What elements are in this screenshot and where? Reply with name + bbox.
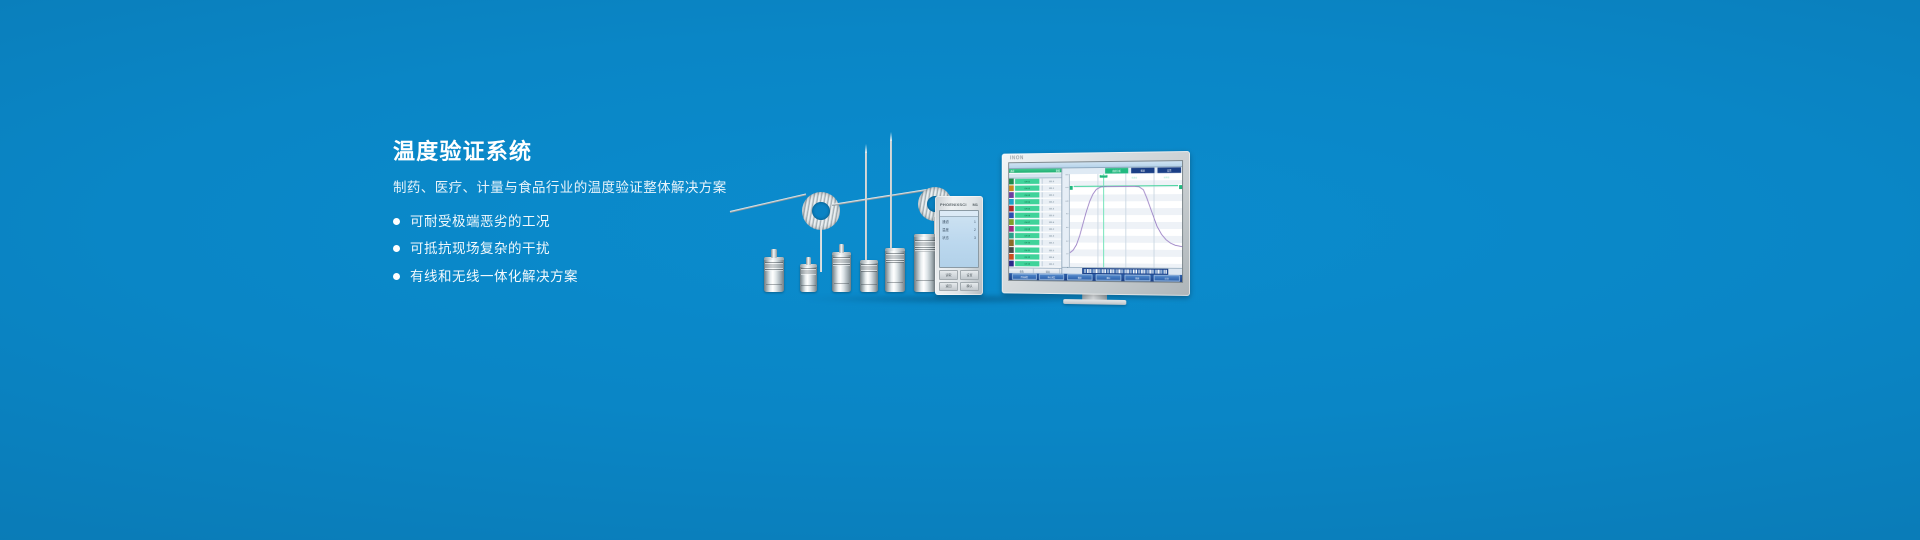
handheld-keypad[interactable]: 读取 设置 返回 确认 xyxy=(939,270,979,291)
channel-color-swatch xyxy=(1009,212,1014,218)
probe-stem xyxy=(820,226,822,272)
channel-value-cell: 121.3 xyxy=(1042,178,1061,184)
data-logger-1-cap xyxy=(771,249,777,258)
handheld-key-setup[interactable]: 设置 xyxy=(960,270,979,280)
chart-area: 曲线分析 报表 设置 140120100806040200 xyxy=(1062,167,1182,275)
logger-band xyxy=(861,284,876,285)
channel-value-cell: 121.5 xyxy=(1042,192,1061,197)
feature-bullet-1-label: 可耐受极端恶劣的工况 xyxy=(410,215,550,229)
logger-band xyxy=(887,282,904,283)
zoom-button[interactable]: 缩放 xyxy=(1067,274,1092,281)
probe-wire-tail xyxy=(832,189,927,206)
y-axis: 140120100806040200 xyxy=(1062,174,1070,267)
data-logger-3 xyxy=(832,252,851,292)
handheld-lcd-screen: 通道 1 温度 2 状态 3 xyxy=(939,210,979,268)
handheld-lcd-row-value: 3 xyxy=(974,236,976,241)
channel-name-cell: CH 05 xyxy=(1015,206,1039,211)
data-logger-4 xyxy=(860,260,878,292)
needle-tip-icon xyxy=(865,144,867,153)
channel-name-cell: CH 04 xyxy=(1015,199,1039,204)
channel-value-cell: 121.6 xyxy=(1042,220,1061,225)
channel-color-swatch xyxy=(1009,247,1014,253)
handheld-lcd-row: 温度 2 xyxy=(940,228,978,233)
feature-bullet-2-label: 可抵抗现场复杂的干扰 xyxy=(410,242,550,256)
channel-table[interactable]: CH 01121.3CH 02121.1CH 03121.5CH 04121.2… xyxy=(1009,178,1061,268)
logger-band xyxy=(801,285,815,286)
monitor-stand-base xyxy=(1063,299,1126,305)
feature-bullet-3-label: 有线和无线一体化解决方案 xyxy=(410,270,578,284)
channel-color-swatch xyxy=(1009,185,1014,191)
channel-color-swatch xyxy=(1009,226,1014,232)
app-body: 通道 数值 CH 01121.3CH 02121.1CH 03121.5CH 0… xyxy=(1009,167,1182,275)
logger-knurl xyxy=(765,262,783,271)
handheld-lcd-row-value: 2 xyxy=(974,228,976,233)
channel-name-cell: CH 02 xyxy=(1015,185,1039,190)
channel-value-cell: 121.4 xyxy=(1042,206,1061,211)
bullet-dot-icon xyxy=(393,273,400,280)
channel-name-cell: CH 06 xyxy=(1015,213,1039,218)
handheld-lcd-statusbar xyxy=(940,211,978,217)
report-button[interactable]: 报表 xyxy=(1124,275,1150,282)
y-axis-tick: 60 xyxy=(1066,227,1068,229)
channel-value-cell: 121.1 xyxy=(1042,185,1061,190)
print-button[interactable]: 打印 xyxy=(1153,275,1179,282)
probe-coil-ring xyxy=(802,192,840,230)
data-logger-2-cap xyxy=(806,257,811,265)
handheld-lcd-row-label: 温度 xyxy=(942,228,949,233)
channel-name-cell: CH 01 xyxy=(1015,178,1039,184)
channel-color-swatch xyxy=(1009,192,1014,198)
channel-data-panel[interactable]: 通道 数值 CH 01121.3CH 02121.1CH 03121.5CH 0… xyxy=(1009,168,1062,273)
channel-color-swatch xyxy=(1009,206,1014,212)
y-axis-tick: 80 xyxy=(1066,214,1068,216)
table-row[interactable]: CH 07121.6 xyxy=(1009,219,1061,226)
temperature-curve xyxy=(1070,173,1182,268)
logger-knurl xyxy=(886,253,904,263)
plot-region: 140120100806040200 F0 min xyxy=(1062,173,1182,268)
logger-knurl xyxy=(861,264,877,272)
data-logger-2 xyxy=(800,264,817,292)
monitor-screen: 通道 数值 CH 01121.3CH 02121.1CH 03121.5CH 0… xyxy=(1008,160,1183,283)
y-axis-tick: 120 xyxy=(1065,187,1068,189)
channel-color-swatch xyxy=(1009,178,1014,184)
data-logger-5 xyxy=(885,248,905,292)
bottom-toolbar[interactable]: 开始采集 停止采集 缩放 游标 报表 打印 xyxy=(1009,273,1182,282)
handheld-lcd-row: 通道 1 xyxy=(940,220,978,225)
y-axis-tick: 140 xyxy=(1065,174,1068,176)
channel-name-cell: CH 08 xyxy=(1015,226,1039,231)
data-logger-1 xyxy=(764,257,784,292)
logger-knurl xyxy=(833,257,850,266)
handheld-key-read[interactable]: 读取 xyxy=(939,270,958,280)
table-row[interactable]: CH 06121.0 xyxy=(1009,212,1061,219)
channel-name-cell: CH 13 xyxy=(1015,261,1039,267)
handheld-lcd-row-label: 状态 xyxy=(942,236,949,241)
channel-value-cell: 121.2 xyxy=(1042,261,1061,266)
channel-name-cell: CH 03 xyxy=(1015,192,1039,197)
channel-name-cell: CH 11 xyxy=(1015,247,1039,252)
handheld-lcd-row: 状态 3 xyxy=(940,236,978,241)
channel-color-swatch xyxy=(1009,254,1014,260)
channel-color-swatch xyxy=(1009,233,1014,239)
handheld-reader[interactable]: PHOENIXSCI M1 通道 1 温度 2 状态 3 读取 设置 返回 确认 xyxy=(935,196,983,295)
handheld-key-back[interactable]: 返回 xyxy=(939,282,958,292)
monitor-brand-logo: INON xyxy=(1010,155,1024,161)
monitor-bezel: INON 通道 数值 CH 01121.3CH 02121.1CH 03121.… xyxy=(1002,151,1190,296)
data-panel-header-right: 数值 xyxy=(1056,169,1060,173)
handheld-lcd-row-label: 通道 xyxy=(942,220,949,225)
needle-tip-icon xyxy=(890,132,892,141)
start-acquisition-button[interactable]: 开始采集 xyxy=(1012,273,1037,279)
handheld-brand-label: PHOENIXSCI xyxy=(940,202,967,207)
bullet-dot-icon xyxy=(393,218,400,225)
y-axis-tick: 20 xyxy=(1066,254,1068,256)
y-axis-tick: 40 xyxy=(1066,240,1068,242)
needle-shaft xyxy=(865,153,867,271)
logger-knurl xyxy=(801,268,816,275)
stop-acquisition-button[interactable]: 停止采集 xyxy=(1039,274,1064,281)
y-axis-tick: 100 xyxy=(1065,200,1068,202)
export-button[interactable]: 导出 xyxy=(1036,269,1060,274)
plot-canvas[interactable]: F0 min 保温段 降温段 xyxy=(1070,173,1182,268)
desktop-monitor: INON 通道 数值 CH 01121.3CH 02121.1CH 03121.… xyxy=(1002,151,1190,296)
channel-value-cell: 121.3 xyxy=(1042,233,1061,238)
channel-color-swatch xyxy=(1009,260,1014,266)
channel-name-cell: CH 10 xyxy=(1015,240,1039,245)
probe-wire-tail xyxy=(730,193,806,212)
channel-name-cell: CH 12 xyxy=(1015,254,1039,259)
handheld-lcd-row-value: 1 xyxy=(974,220,976,225)
handheld-brand-bar: PHOENIXSCI M1 xyxy=(938,200,980,208)
channel-color-swatch xyxy=(1009,199,1014,205)
select-all-button[interactable]: 全选 xyxy=(1010,269,1033,274)
hero-banner: 温度验证系统 制药、医疗、计量与食品行业的温度验证整体解决方案 可耐受极端恶劣的… xyxy=(0,0,1920,540)
logger-band xyxy=(834,283,850,284)
logger-knurl xyxy=(915,240,934,252)
cursor-button[interactable]: 游标 xyxy=(1096,274,1121,281)
channel-value-cell: 121.2 xyxy=(1042,199,1061,204)
channel-name-cell: CH 07 xyxy=(1015,220,1039,225)
channel-value-cell: 121.2 xyxy=(1042,226,1061,231)
channel-name-cell: CH 09 xyxy=(1015,233,1039,238)
data-panel-header-left: 通道 xyxy=(1010,169,1014,173)
channel-value-cell: 121.4 xyxy=(1042,254,1061,259)
channel-value-cell: 121.5 xyxy=(1042,247,1061,252)
handheld-model-label: M1 xyxy=(972,202,978,207)
data-logger-3-cap xyxy=(839,244,844,253)
bullet-dot-icon xyxy=(393,245,400,252)
channel-color-swatch xyxy=(1009,219,1014,225)
channel-value-cell: 121.0 xyxy=(1042,213,1061,218)
channel-value-cell: 121.1 xyxy=(1042,240,1061,245)
channel-color-swatch xyxy=(1009,240,1014,246)
logger-band xyxy=(766,284,783,285)
handheld-key-confirm[interactable]: 确认 xyxy=(960,282,979,292)
